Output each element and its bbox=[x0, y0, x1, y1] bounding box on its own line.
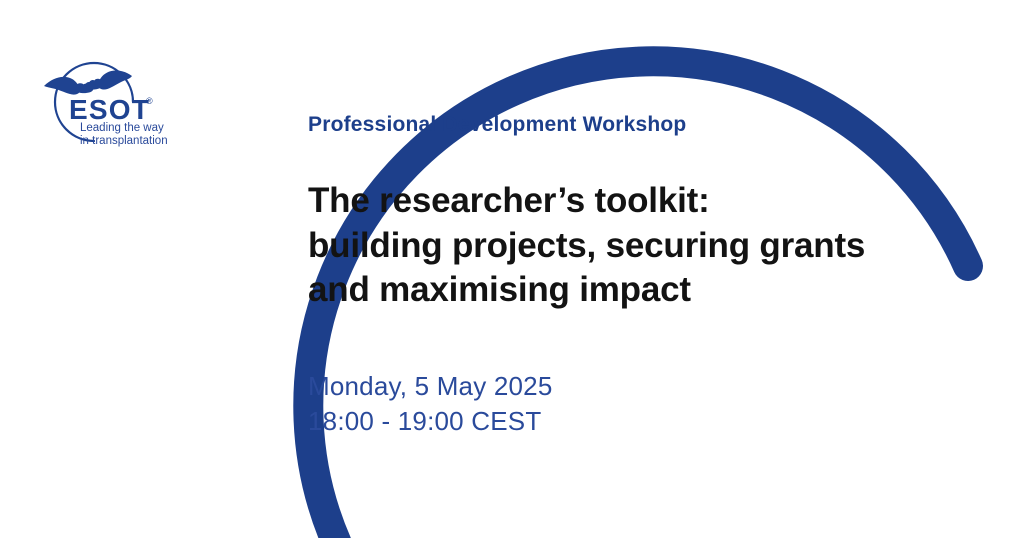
content-column: Professional Development Workshop The re… bbox=[308, 112, 968, 439]
title-line-1: The researcher’s toolkit: bbox=[308, 181, 710, 220]
logo-tagline-line1: Leading the way bbox=[80, 122, 164, 134]
hand-right bbox=[85, 71, 132, 90]
promo-banner: ESOT ® Leading the way in transplantatio… bbox=[0, 0, 1024, 538]
eyebrow-heading: Professional Development Workshop bbox=[308, 112, 968, 137]
esot-logo: ESOT ® Leading the way in transplantatio… bbox=[32, 48, 184, 148]
page-title: The researcher’s toolkit: building proje… bbox=[308, 179, 968, 312]
logo-tagline-line2: in transplantation bbox=[80, 135, 168, 147]
logo-wordmark: ESOT bbox=[69, 94, 150, 125]
title-line-3: and maximising impact bbox=[308, 270, 691, 309]
event-date: Monday, 5 May 2025 bbox=[308, 369, 968, 404]
logo-trademark: ® bbox=[146, 96, 153, 106]
event-datetime: Monday, 5 May 2025 18:00 - 19:00 CEST bbox=[308, 369, 968, 440]
event-time: 18:00 - 19:00 CEST bbox=[308, 404, 968, 439]
title-line-2: building projects, securing grants bbox=[308, 226, 865, 265]
